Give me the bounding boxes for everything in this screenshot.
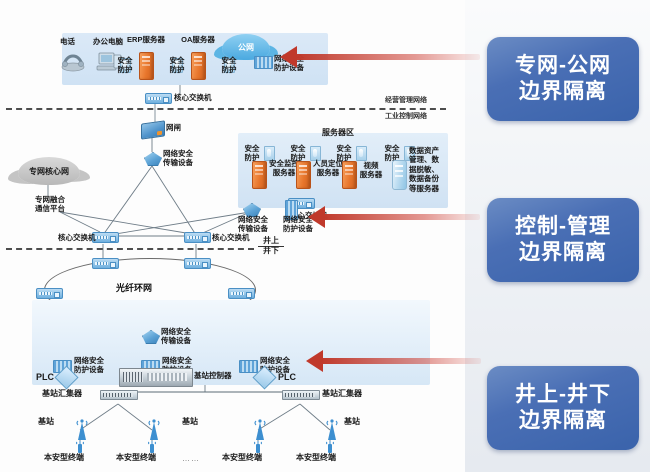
diagram-canvas: 电话 办公电脑 ERP服务器 OA服务器 公网 安全防护 安全防护 安全防护 网… [0,0,650,472]
core-switch-label-left: 核心交换机 [58,234,96,243]
concentrator-icon-right [282,390,320,400]
concentrator-icon-left [100,390,138,400]
private-core-network-cloud-icon: 专网核心网 [18,157,80,185]
concentrator-label-right: 基站汇集器 [322,389,362,398]
base-station-icon-3 [252,418,264,438]
callout-1-line1: 专网-公网 [515,53,611,79]
terminal-icon-4 [325,440,333,452]
gateway-label: 网闸 [166,124,181,133]
oa-server-label: OA服务器 [178,36,218,45]
video-server-icon [342,161,357,189]
video-server-label: 视频服务器 [356,162,386,180]
callout-private-public-isolation[interactable]: 专网-公网 边界隔离 [487,37,639,121]
plc-label-right: PLC [278,372,296,383]
security-transmission-label-bottom: 网络安全传输设备 [161,328,205,346]
callout-arrow-2 [308,206,480,228]
core-switch-icon-left [92,232,119,243]
server-security-shield-icon-3 [356,146,367,161]
server-zone-title: 服务器区 [322,128,354,137]
callout-surface-underground-isolation[interactable]: 井上-井下 边界隔离 [487,366,639,450]
security-label-3: 安全防护 [217,57,241,75]
separator-label-below-2: 井下 [263,246,279,255]
callout-3-line2: 边界隔离 [519,408,607,434]
security-protection-label-b1: 网络安全防护设备 [74,357,118,375]
security-label-1: 安全防护 [113,57,137,75]
ring-switch-left [36,288,63,299]
ring-switch-top-right [184,258,211,269]
security-protection-icon-b3 [239,360,258,373]
data-asset-server-label: 数据资产管理、数据脱敏、数据备份等服务器 [409,146,449,193]
security-transmission-label-mid: 网络安全传输设备 [163,150,213,168]
security-label-2: 安全防护 [165,57,189,75]
terminal-label-4: 本安型终端 [296,453,336,462]
concentrator-label-left: 基站汇集器 [42,389,82,398]
base-station-icon-1 [74,418,86,438]
callout-1-line2: 边界隔离 [519,79,607,105]
separator-label-above-2: 井上 [263,236,279,245]
base-station-label-2: 基站 [182,417,198,426]
callout-arrow-3 [306,350,481,372]
terminal-icon-1 [75,440,83,452]
data-asset-server-icon [392,160,407,190]
separator-management-industrial [6,108,446,110]
core-switch-icon-top [145,93,172,104]
separator-label-above-1: 经营管理网络 [385,95,427,105]
callout-3-line1: 井上-井下 [515,382,611,408]
office-pc-label: 办公电脑 [93,38,123,47]
separator-fraction-surface-underground: 井上 井下 [258,237,284,256]
terminal-icon-2 [147,440,155,452]
terminal-label-3: 本安型终端 [222,453,262,462]
core-switch-icon-right [184,232,211,243]
fusion-platform-label: 专网融合通信平台 [20,196,80,214]
base-station-controller-icon [119,368,193,387]
ring-switch-top-left [92,258,119,269]
fiber-ring-label: 光纤环网 [116,281,152,294]
erp-server-label: ERP服务器 [126,36,166,45]
terminal-icon-3 [253,440,261,452]
callout-arrow-1 [280,46,480,68]
terminal-label-1: 本安型终端 [44,453,84,462]
public-network-label: 公网 [238,42,254,53]
phone-icon [60,52,86,77]
base-station-label-3: 基站 [344,417,360,426]
callout-2-line2: 边界隔离 [519,240,607,266]
terminal-label-2: 本安型终端 [116,453,156,462]
callout-2-line1: 控制-管理 [515,214,611,240]
personnel-location-server-icon [296,161,311,189]
safety-monitor-server-icon [252,161,267,189]
plc-label-left: PLC [36,372,54,383]
base-station-icon-2 [146,418,158,438]
base-station-icon-4 [324,418,336,438]
base-station-controller-label: 基站控制器 [194,372,232,381]
base-station-label-1: 基站 [38,417,54,426]
erp-server-icon [139,52,154,80]
oa-server-icon [191,52,206,80]
gateway-icon [141,120,165,139]
core-switch-label-right: 核心交换机 [212,234,250,243]
phone-label: 电话 [60,38,75,47]
private-core-network-label: 专网核心网 [29,166,69,177]
core-switch-label-top: 核心交换机 [174,94,212,103]
separator-surface-underground [6,248,254,250]
network-security-device-icon-top [254,56,273,69]
security-transmission-label-server: 网络安全传输设备 [238,216,280,234]
terminal-ellipsis: …… [182,454,200,463]
separator-label-below-1: 工业控制网络 [385,111,427,121]
callout-control-management-isolation[interactable]: 控制-管理 边界隔离 [487,198,639,282]
ring-switch-right [228,288,255,299]
